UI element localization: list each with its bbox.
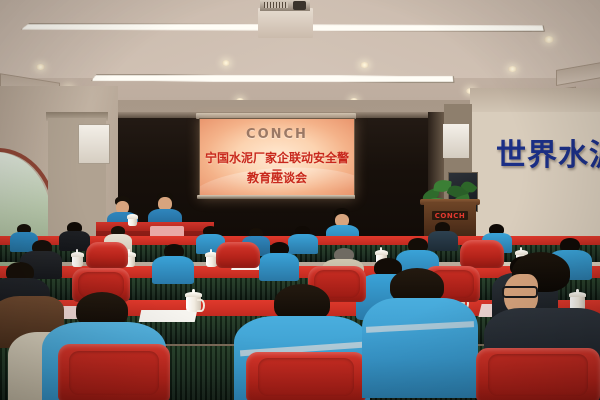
downlight-icon — [508, 66, 517, 72]
attendee-torso — [259, 253, 299, 281]
teacup — [128, 214, 137, 226]
attendee-torso — [152, 256, 194, 284]
right-wall-upper-band — [470, 88, 600, 112]
chair-cushion — [258, 358, 354, 396]
attendee-torso — [362, 298, 478, 398]
teacup-knob — [576, 289, 579, 293]
wall-signage-text: 世界水泥看 — [496, 138, 600, 174]
downlight-icon — [36, 64, 45, 70]
slide-subhead: 教育座谈会 — [200, 169, 354, 186]
teacup — [72, 252, 83, 267]
teacup-body — [72, 256, 83, 267]
eyeglasses-icon — [502, 286, 538, 298]
downlight-icon — [222, 60, 230, 66]
chair — [58, 344, 170, 400]
podium-brand-plate: CONCH — [432, 211, 468, 220]
teacup-lid — [375, 250, 388, 255]
teacup-body — [128, 218, 137, 226]
chair — [246, 352, 366, 400]
wall-speaker-left — [78, 124, 110, 164]
projector-lens-icon — [293, 1, 306, 10]
projector-vent-icon — [264, 2, 288, 8]
chair-back — [86, 242, 128, 268]
ceiling-panel-right — [300, 0, 600, 78]
teacup-handle — [197, 299, 205, 312]
conference-room-photo: 世界水泥看 CONCH CONCH 宁国水泥厂家企联动安全警示 教育座谈会 — [0, 0, 600, 400]
chair — [216, 242, 260, 268]
attendee-torso — [428, 231, 458, 251]
chair-cushion — [69, 351, 159, 395]
wall-speaker-right — [443, 124, 469, 158]
teacup-knob — [192, 289, 195, 293]
chair — [476, 348, 600, 400]
teacup-lid — [71, 252, 84, 257]
chair — [460, 240, 504, 268]
projector-mount — [258, 8, 313, 38]
attendee-torso — [288, 234, 318, 254]
teacup — [186, 292, 201, 312]
teacup-lid — [127, 214, 138, 219]
slide-brand-logo: CONCH — [200, 127, 354, 142]
ceiling-panel-left — [0, 0, 300, 78]
projection-screen: CONCH 宁国水泥厂家企联动安全警示 教育座谈会 — [199, 118, 355, 199]
projection-screen-bottom-bar — [197, 195, 355, 199]
chair — [86, 242, 128, 268]
downlight-icon — [360, 62, 369, 68]
chair-back — [216, 242, 260, 268]
podium-brand-text: CONCH — [435, 212, 465, 220]
chair-cushion — [488, 354, 587, 395]
downlight-icon — [544, 36, 554, 43]
chair-back — [460, 240, 504, 268]
